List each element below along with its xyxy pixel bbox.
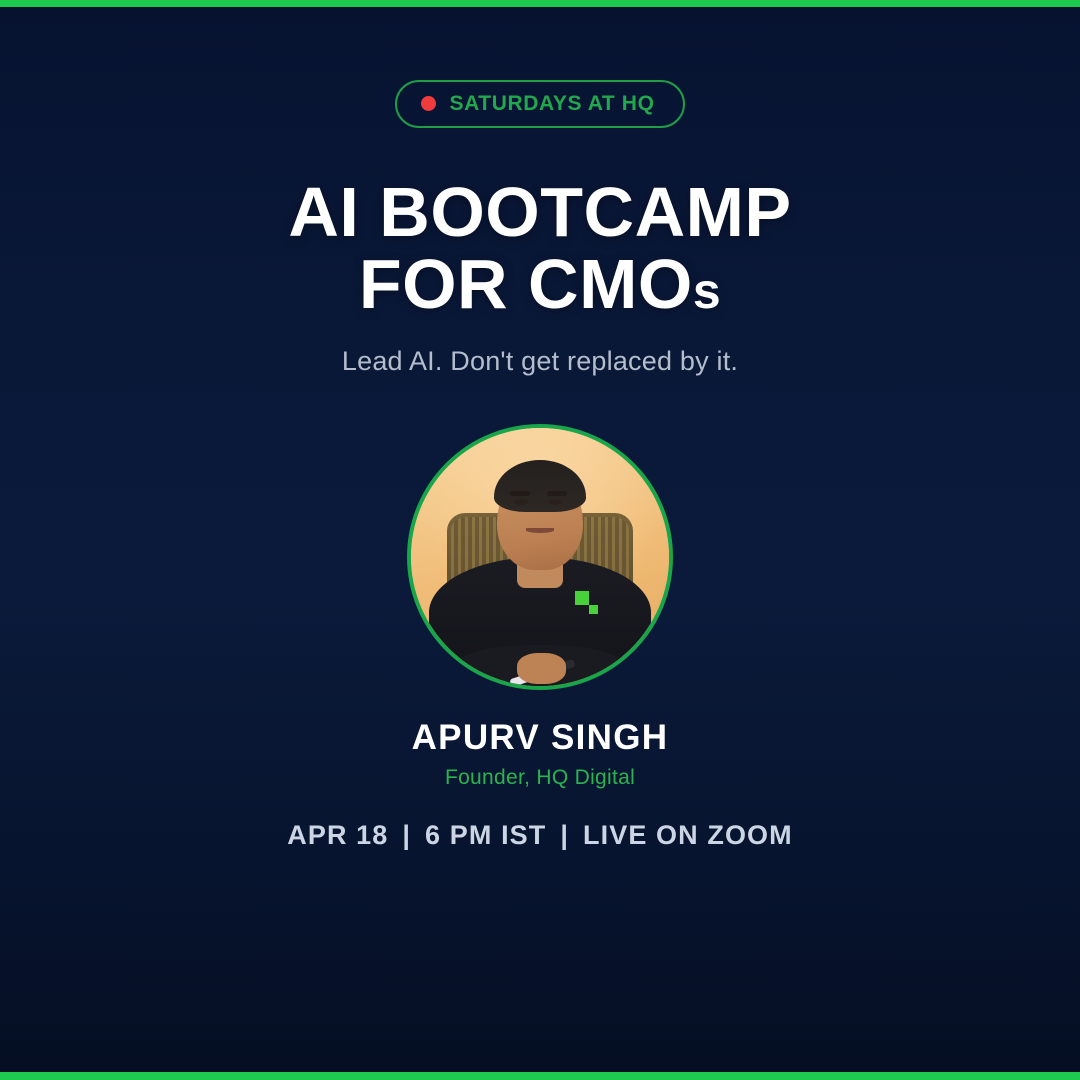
speaker-brow-left — [510, 491, 531, 496]
speaker-hands — [517, 653, 566, 684]
event-details: APR 18 | 6 PM IST | LIVE ON ZOOM — [287, 820, 792, 851]
speaker-portrait — [407, 424, 673, 690]
headline-line-2: FOR CMOs — [288, 248, 791, 320]
top-accent-bar — [0, 0, 1080, 7]
logo-square-large — [575, 591, 589, 605]
speaker-hair — [494, 460, 587, 512]
logo-square-small — [589, 605, 598, 614]
page-title: AI BOOTCAMP FOR CMOs — [288, 176, 791, 320]
event-platform: LIVE ON ZOOM — [583, 820, 793, 851]
headline-line-2-suffix: s — [693, 263, 721, 319]
badge-container: SATURDAYS AT HQ — [0, 80, 1080, 128]
portrait-photo — [411, 428, 669, 686]
bottom-accent-bar — [0, 1072, 1080, 1080]
event-time: 6 PM IST — [425, 820, 546, 851]
event-separator-1: | — [388, 820, 425, 851]
hq-logo-icon — [575, 591, 598, 614]
headline-line-2-main: FOR CMO — [359, 245, 693, 323]
speaker-brow-right — [547, 491, 568, 496]
speaker-name: APURV SINGH — [412, 718, 669, 758]
live-dot-icon — [421, 96, 436, 111]
promo-poster: SATURDAYS AT HQ AI BOOTCAMP FOR CMOs Lea… — [0, 0, 1080, 1080]
headline-line-1: AI BOOTCAMP — [288, 176, 791, 248]
event-date: APR 18 — [287, 820, 388, 851]
series-badge-label: SATURDAYS AT HQ — [449, 93, 654, 114]
event-separator-2: | — [546, 820, 583, 851]
series-badge[interactable]: SATURDAYS AT HQ — [395, 80, 684, 128]
speaker-role: Founder, HQ Digital — [445, 766, 635, 790]
subtitle: Lead AI. Don't get replaced by it. — [342, 346, 738, 377]
